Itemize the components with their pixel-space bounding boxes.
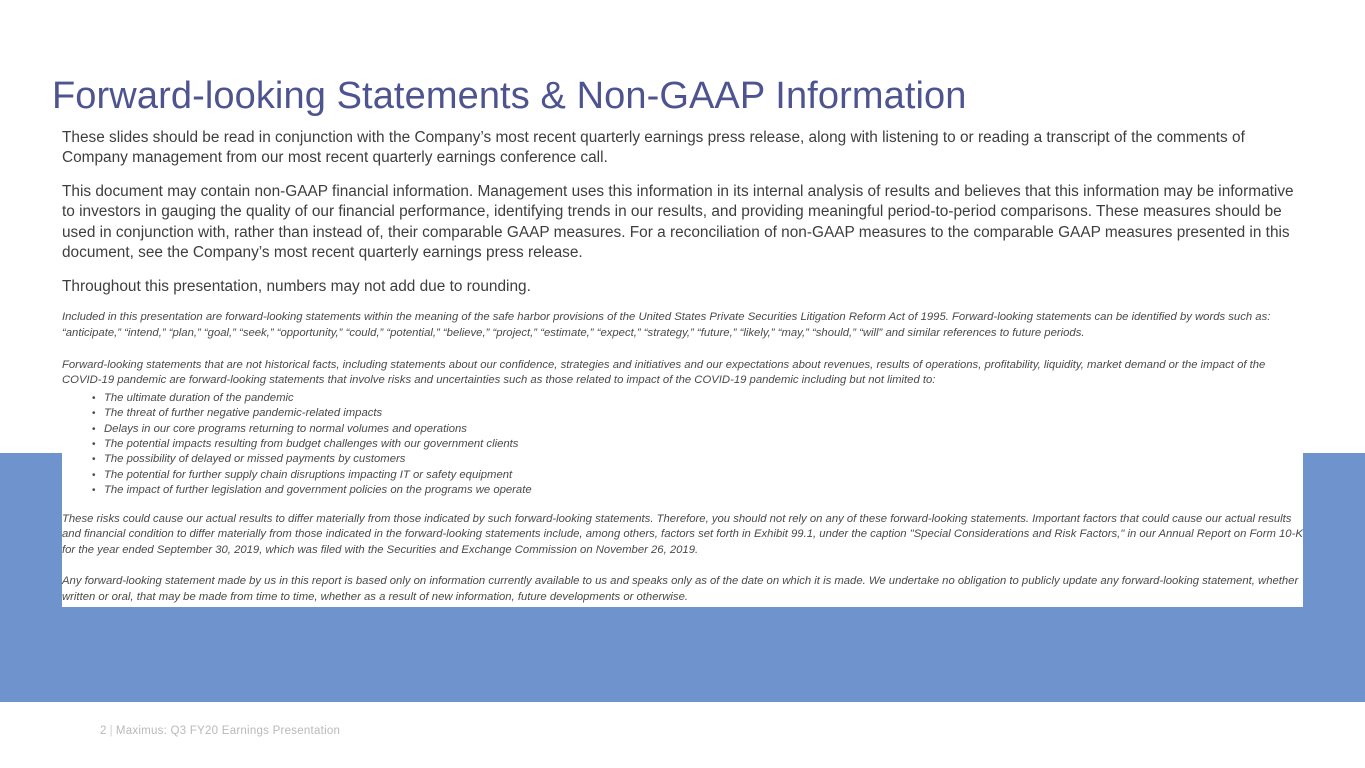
page-number: 2 — [100, 725, 107, 737]
risk-factors-outro: These risks could cause our actual resul… — [62, 512, 1303, 559]
body-paragraph-2: This document may contain non-GAAP finan… — [62, 182, 1303, 264]
list-item: The impact of further legislation and go… — [62, 483, 1303, 498]
body-paragraph-3: Throughout this presentation, numbers ma… — [62, 277, 1303, 297]
footer-separator: | — [107, 725, 116, 737]
safe-harbor-disclaimer: Included in this presentation are forwar… — [62, 310, 1303, 341]
page-title: Forward-looking Statements & Non-GAAP In… — [52, 75, 967, 119]
list-item: The potential for further supply chain d… — [62, 468, 1303, 483]
list-item: The ultimate duration of the pandemic — [62, 391, 1303, 406]
deck-name: Maximus: Q3 FY20 Earnings Presentation — [116, 725, 340, 737]
list-item: The possibility of delayed or missed pay… — [62, 452, 1303, 467]
list-item: Delays in our core programs returning to… — [62, 422, 1303, 437]
list-item: The potential impacts resulting from bud… — [62, 437, 1303, 452]
body-paragraph-1: These slides should be read in conjuncti… — [62, 128, 1303, 169]
content-card: These slides should be read in conjuncti… — [62, 128, 1303, 607]
forward-looking-update-note: Any forward-looking statement made by us… — [62, 574, 1303, 605]
slide-footer: 2|Maximus: Q3 FY20 Earnings Presentation — [100, 725, 340, 737]
risk-factors-intro: Forward-looking statements that are not … — [62, 358, 1303, 389]
list-item: The threat of further negative pandemic-… — [62, 406, 1303, 421]
risk-bullet-list: The ultimate duration of the pandemic Th… — [62, 391, 1303, 499]
